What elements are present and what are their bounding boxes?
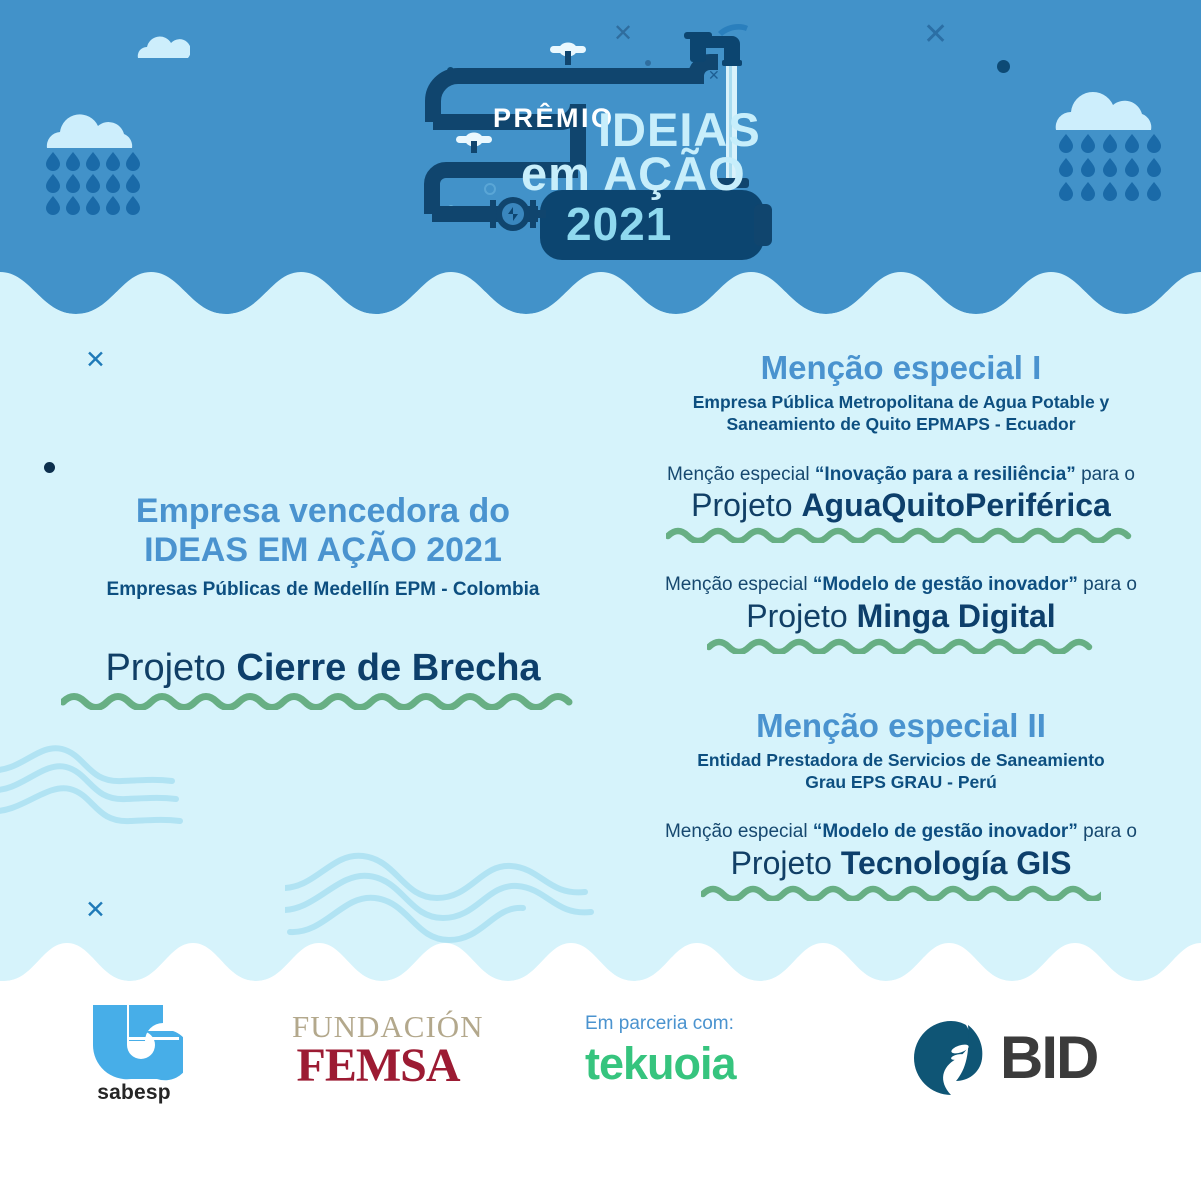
sponsor-footer: sabesp FUNDACIÓN FEMSA Em parceria com: …: [0, 957, 1201, 1201]
bid-wordmark: BID: [1000, 1028, 1097, 1088]
mention-category: “Modelo de gestão inovador”: [813, 821, 1078, 842]
winner-squiggle-underline: [61, 690, 586, 710]
project-prefix: Projeto: [731, 845, 832, 881]
mention-2-org-line1: Entidad Prestadora de Servicios de Sanea…: [622, 749, 1180, 771]
pipe-valve-icon-1: [550, 43, 586, 66]
mention-2-award-1-squiggle: [701, 883, 1101, 901]
mention-1-org-line2: Saneamiento de Quito EPMAPS - Ecuador: [622, 413, 1180, 435]
sabesp-wordmark: sabesp: [78, 1081, 190, 1105]
water-scribble-center: [285, 840, 605, 960]
water-meter-icon: [480, 197, 546, 231]
water-scribble-left: [0, 735, 200, 845]
small-cloud-icon: [136, 32, 190, 60]
x-decor-left-upper: ✕: [85, 348, 106, 373]
project-prefix: Projeto: [691, 487, 792, 523]
femsa-logo[interactable]: FUNDACIÓN FEMSA: [292, 1011, 464, 1090]
mention-1-award-1: Menção especial “Inovação para a resiliê…: [622, 463, 1180, 543]
award-logo: PRÊMIO IDEIAS em AÇÃO 2021: [418, 18, 784, 260]
logo-premio-text: PRÊMIO: [493, 103, 615, 134]
mention-1-award-2-line: Menção especial “Modelo de gestão inovad…: [622, 573, 1180, 598]
winner-title-line1: Empresa vencedora do: [24, 492, 622, 531]
winner-project-prefix: Projeto: [105, 647, 225, 689]
mention-2-award-1-project: Projeto Tecnología GIS: [622, 845, 1180, 883]
mention-2-org-line2: Grau EPS GRAU - Perú: [622, 771, 1180, 793]
mention-1-award-1-line: Menção especial “Inovação para a resiliê…: [622, 463, 1180, 488]
bid-leaf-icon: [912, 1019, 990, 1097]
winner-organization: Empresas Públicas de Medellín EPM - Colo…: [24, 578, 622, 602]
project-prefix: Projeto: [746, 598, 847, 634]
rain-cloud-left-icon: [35, 110, 145, 220]
project-name: Tecnología GIS: [841, 845, 1072, 881]
x-decor-top-right: ✕: [923, 20, 948, 50]
femsa-wordmark: FEMSA: [292, 1042, 464, 1090]
logo-year-text: 2021: [566, 197, 672, 251]
mention-1-award-2: Menção especial “Modelo de gestão inovad…: [622, 573, 1180, 653]
mention-1-award-2-squiggle: [707, 636, 1095, 654]
mention-suffix: para o: [1083, 574, 1137, 595]
x-decor-left-lower: ✕: [85, 898, 106, 923]
mention-suffix: para o: [1083, 821, 1137, 842]
mention-category: “Inovação para a resiliência”: [815, 464, 1076, 485]
project-name: Minga Digital: [857, 598, 1056, 634]
wave-divider-top: [0, 262, 1201, 324]
partner-label: Em parceria com:: [585, 1013, 785, 1035]
femsa-fundacion-text: FUNDACIÓN: [292, 1011, 464, 1042]
mention-suffix: para o: [1081, 464, 1135, 485]
tekuoia-wordmark: tekuoia: [585, 1041, 785, 1086]
tekuoia-logo[interactable]: Em parceria com: tekuoia: [585, 1013, 785, 1086]
mention-section-2: Menção especial II Entidad Prestadora de…: [622, 708, 1180, 901]
bid-logo[interactable]: BID: [912, 1019, 1112, 1097]
pipe-valve-icon-2: [456, 133, 492, 154]
mention-2-award-1-line: Menção especial “Modelo de gestão inovad…: [622, 820, 1180, 845]
mentions-block: Menção especial I Empresa Pública Metrop…: [622, 350, 1180, 901]
mention-1-award-2-project: Projeto Minga Digital: [622, 598, 1180, 636]
winner-title-line2: IDEAS EM AÇÃO 2021: [24, 531, 622, 570]
mention-2-award-1: Menção especial “Modelo de gestão inovad…: [622, 820, 1180, 900]
mention-section-1: Menção especial I Empresa Pública Metrop…: [622, 350, 1180, 654]
mention-label: Menção especial: [667, 464, 810, 485]
mention-1-award-1-project: Projeto AguaQuitoPeriférica: [622, 487, 1180, 525]
mention-1-award-1-squiggle: [666, 525, 1136, 543]
rain-cloud-right-icon: [1046, 88, 1168, 208]
winner-block: Empresa vencedora do IDEAS EM AÇÃO 2021 …: [24, 492, 622, 710]
mention-category: “Modelo de gestão inovador”: [813, 574, 1078, 595]
mention-2-heading: Menção especial II: [622, 708, 1180, 745]
mention-label: Menção especial: [665, 821, 808, 842]
dot-decor-top-right: [997, 60, 1010, 73]
mention-1-heading: Menção especial I: [622, 350, 1180, 387]
sabesp-logo-icon: [85, 1003, 183, 1081]
dot-decor-left-mid: [44, 462, 55, 473]
mention-label: Menção especial: [665, 574, 808, 595]
logo-em-acao-text: em AÇÃO: [521, 146, 746, 201]
winner-project-name: Cierre de Brecha: [236, 647, 540, 689]
winner-project: Projeto Cierre de Brecha: [24, 647, 622, 690]
sabesp-logo[interactable]: sabesp: [78, 1003, 190, 1105]
mention-1-org-line1: Empresa Pública Metropolitana de Agua Po…: [622, 391, 1180, 413]
project-name: AguaQuitoPeriférica: [801, 487, 1110, 523]
poster-canvas: ✕ ✕ ✕ ✕ ✕: [0, 0, 1201, 1201]
